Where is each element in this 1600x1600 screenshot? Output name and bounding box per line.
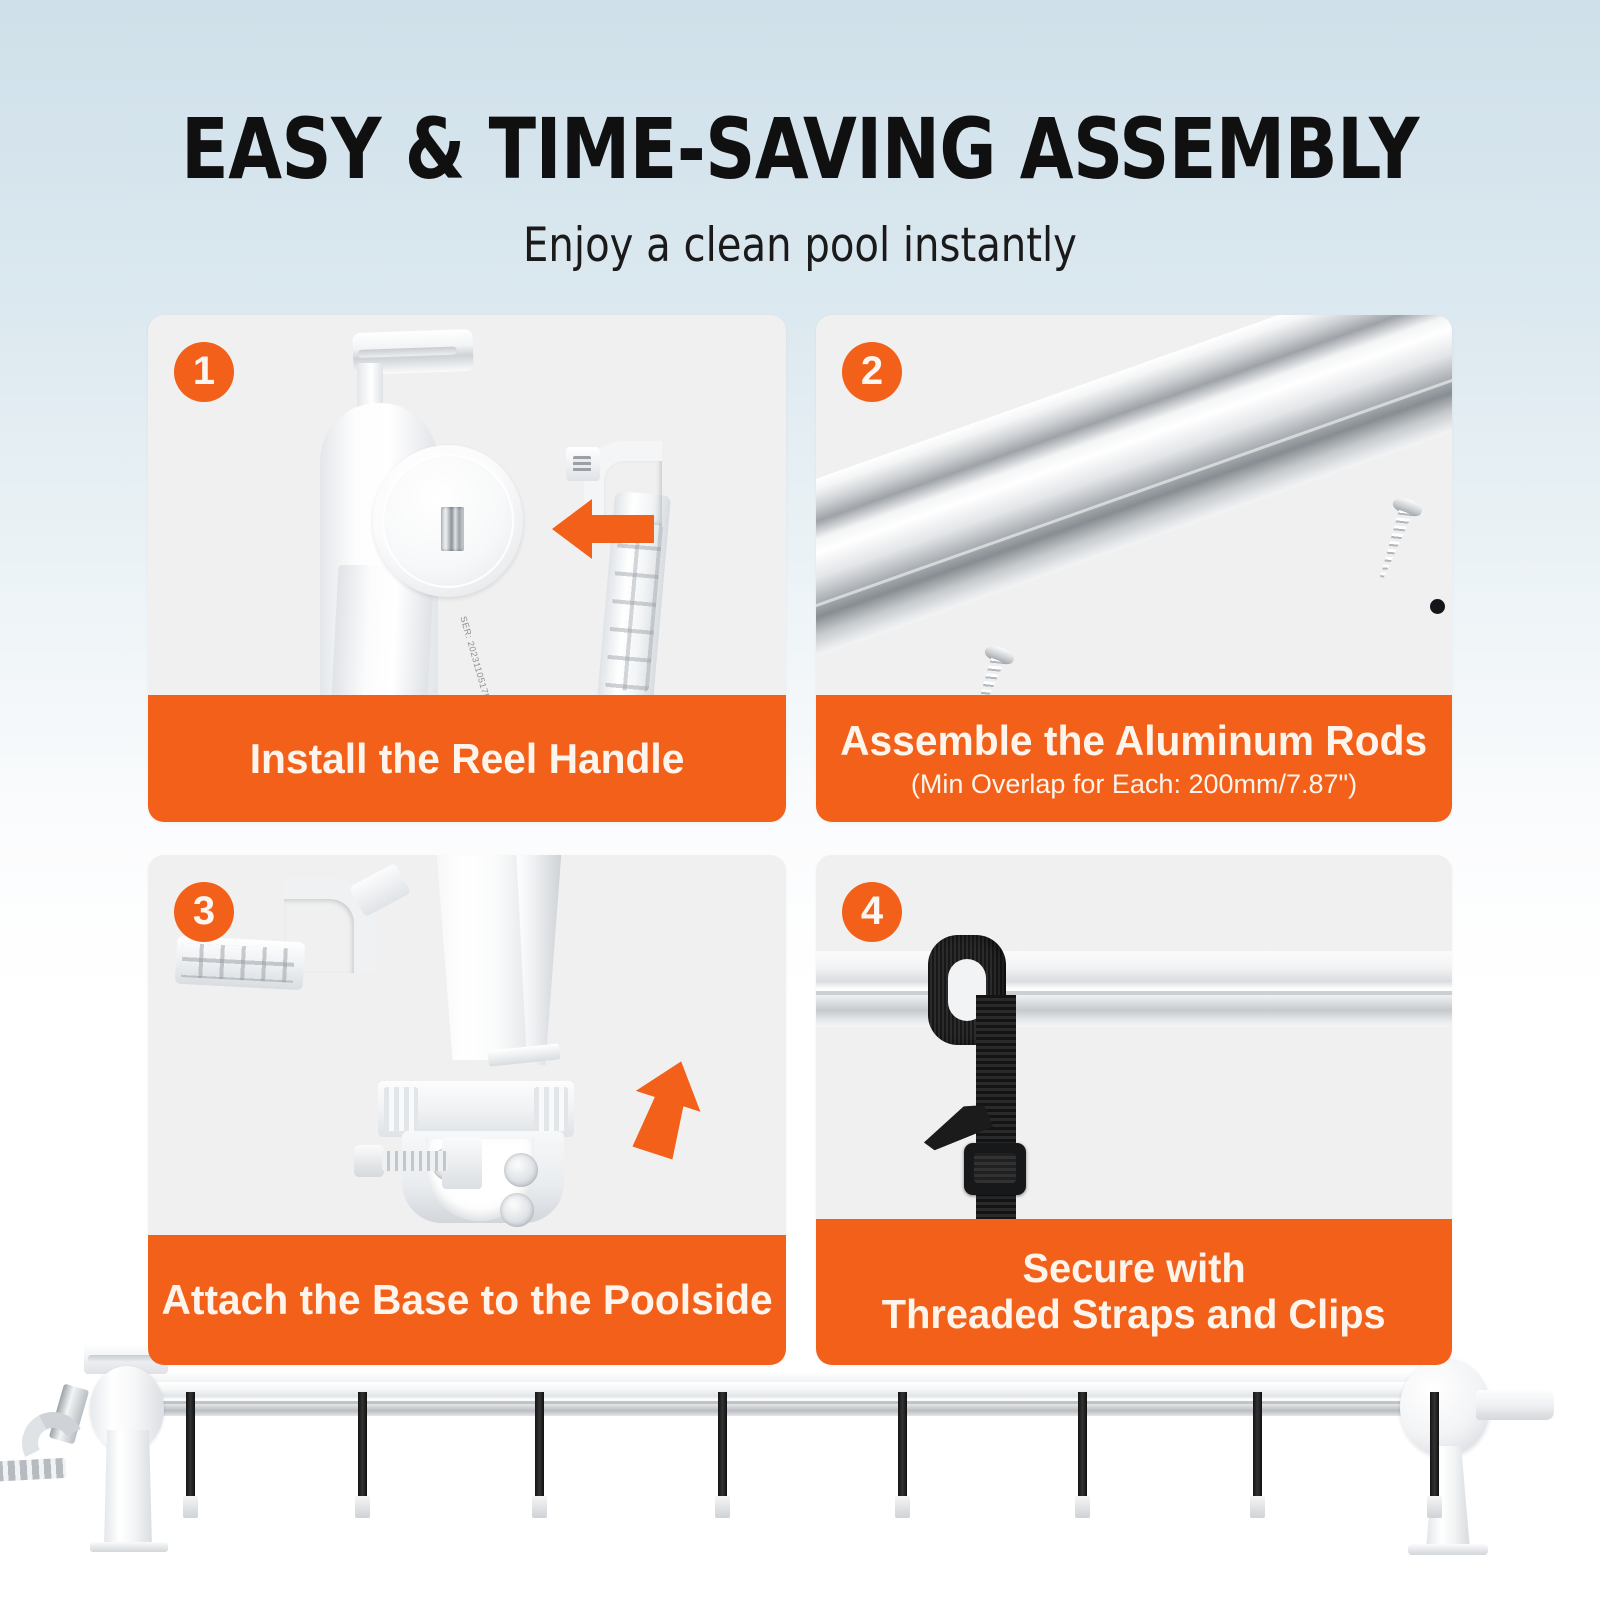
page-subtitle: Enjoy a clean pool instantly: [40, 218, 1560, 273]
step-2-caption: Assemble the Aluminum Rods (Min Overlap …: [816, 695, 1452, 822]
step-panel-1: SER: 20231105175244003493 Install the Re…: [148, 315, 786, 822]
handle-socket-icon: [441, 507, 464, 551]
step-1-caption-text: Install the Reel Handle: [250, 735, 685, 782]
reel-strap-icon: [718, 1392, 727, 1500]
reel-end-wheel-assembly-icon: [1364, 1346, 1564, 1546]
step-3-caption: Attach the Base to the Poolside: [148, 1235, 786, 1365]
reel-strap-icon: [1430, 1392, 1439, 1500]
step-2-caption-subtext: (Min Overlap for Each: 200mm/7.87"): [911, 770, 1357, 800]
step-panel-4: Secure with Threaded Straps and Clips 4: [816, 855, 1452, 1365]
arrow-up-icon: [626, 1055, 706, 1161]
step-4-caption-line2: Threaded Straps and Clips: [882, 1292, 1386, 1338]
drill-hole-icon: [1430, 599, 1445, 614]
reel-strap-icon: [1253, 1392, 1262, 1500]
crank-handle-icon: [566, 433, 662, 703]
header: EASY & TIME-SAVING ASSEMBLY Enjoy a clea…: [0, 0, 1600, 273]
step-3-caption-text: Attach the Base to the Poolside: [161, 1276, 772, 1323]
step-panel-2: Assemble the Aluminum Rods (Min Overlap …: [816, 315, 1452, 822]
screw-icon: [1369, 496, 1420, 591]
steps-grid: SER: 20231105175244003493 Install the Re…: [148, 315, 1452, 1365]
step-1-caption: Install the Reel Handle: [148, 695, 786, 822]
page-title: EASY & TIME-SAVING ASSEMBLY: [64, 110, 1536, 190]
aluminum-rod-icon: [816, 315, 1452, 693]
strap-buckle-icon: [964, 1143, 1026, 1195]
step-2-caption-text: Assemble the Aluminum Rods: [840, 717, 1427, 764]
reel-strap-icon: [1078, 1392, 1087, 1500]
reel-crank-assembly-icon: [28, 1344, 248, 1544]
arrow-left-icon: [548, 493, 658, 565]
aluminum-rod-icon: [816, 951, 1452, 1027]
reel-strap-icon: [898, 1392, 907, 1500]
reel-strap-icon: [186, 1392, 195, 1500]
step-4-caption-line1: Secure with: [1022, 1246, 1245, 1292]
poolside-clamp-icon: [354, 1081, 604, 1241]
step-number-badge-3: 3: [174, 882, 234, 942]
step-number-badge-2: 2: [842, 342, 902, 402]
step-panel-3: Attach the Base to the Poolside 3: [148, 855, 786, 1365]
step-4-caption: Secure with Threaded Straps and Clips: [816, 1219, 1452, 1365]
step-number-badge-1: 1: [174, 342, 234, 402]
reel-strap-icon: [535, 1392, 544, 1500]
step-number-badge-4: 4: [842, 882, 902, 942]
reel-strap-icon: [358, 1392, 367, 1500]
